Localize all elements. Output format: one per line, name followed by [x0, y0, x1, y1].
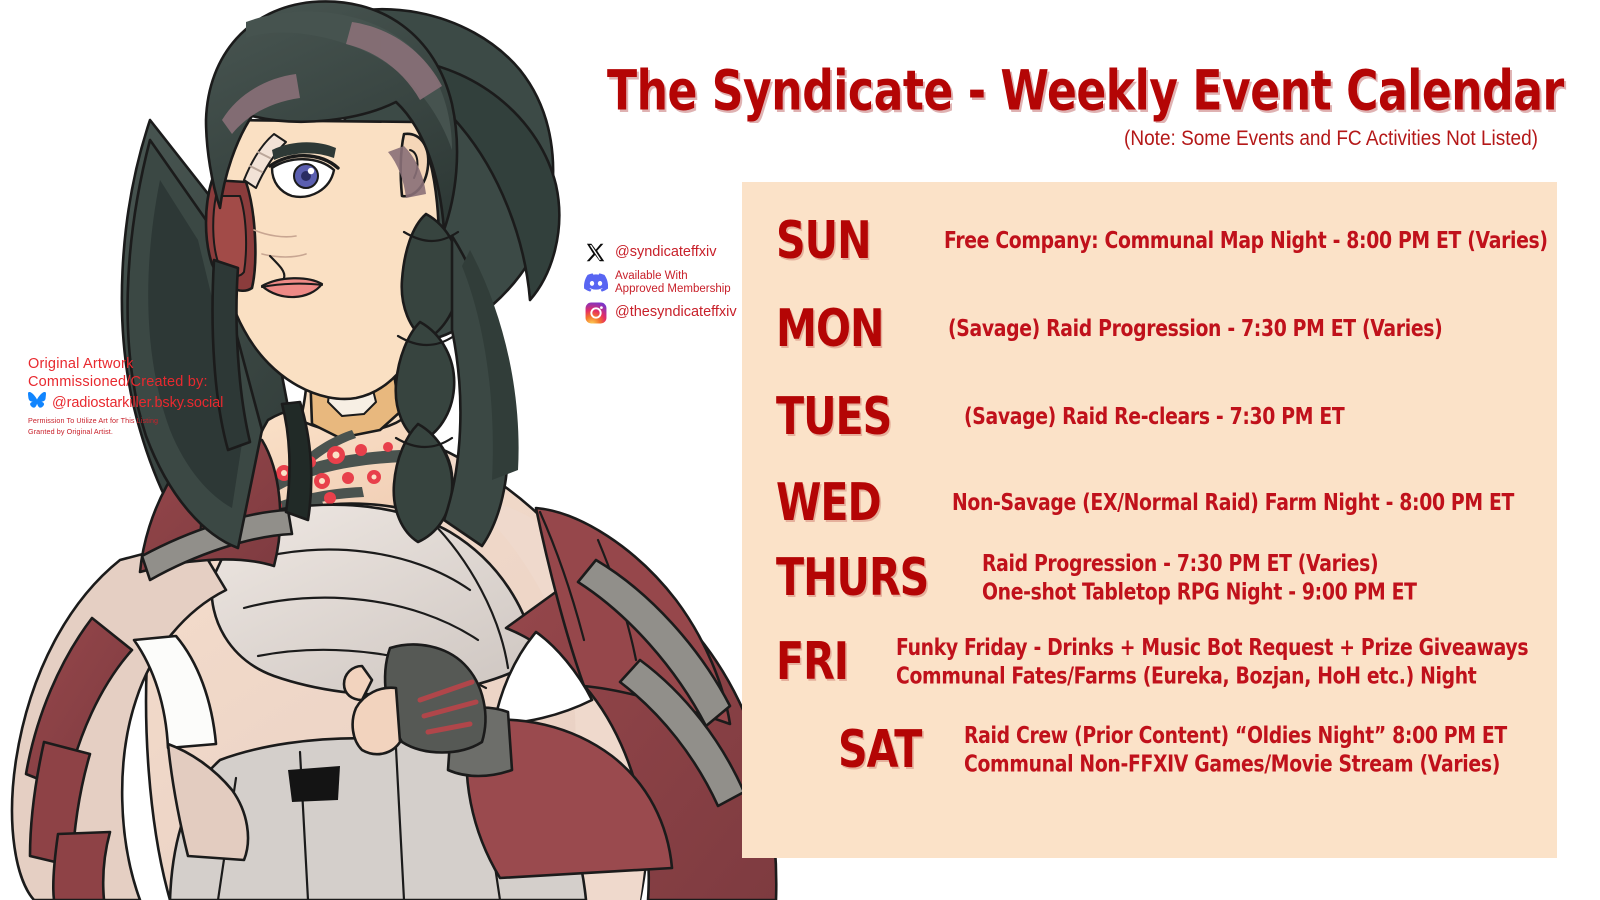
event-text-mon: (Savage) Raid Progression - 7:30 PM ET (… [948, 315, 1442, 343]
poster-canvas: The Syndicate - Weekly Event Calendar (N… [0, 0, 1600, 900]
event-line: Communal Non-FFXIV Games/Movie Stream (V… [964, 750, 1507, 778]
event-line: One-shot Tabletop RPG Night - 9:00 PM ET [982, 578, 1417, 606]
event-line: Raid Crew (Prior Content) “Oldies Night”… [964, 722, 1507, 750]
event-line: Free Company: Communal Map Night - 8:00 … [944, 227, 1548, 255]
discord-note-line1: Available With [615, 270, 731, 282]
event-line: (Savage) Raid Progression - 7:30 PM ET (… [948, 315, 1442, 343]
event-text-sun: Free Company: Communal Map Night - 8:00 … [944, 227, 1548, 255]
day-label-sat: SAT [838, 720, 962, 780]
schedule-row-fri: FRI Funky Friday - Drinks + Music Bot Re… [776, 638, 1551, 686]
schedule-row-tues: TUES (Savage) Raid Re-clears - 7:30 PM E… [776, 394, 1358, 440]
discord-note-line2: Approved Membership [615, 283, 731, 295]
event-line: (Savage) Raid Re-clears - 7:30 PM ET [964, 403, 1344, 431]
permission-line-2: Granted by Original Artist. [28, 427, 288, 437]
day-label-sun: SUN [776, 211, 933, 271]
page-title: The Syndicate - Weekly Event Calendar [607, 62, 1538, 120]
permission-line-1: Permission To Utilize Art for This Listi… [28, 416, 288, 426]
day-label-tues: TUES [776, 387, 949, 447]
event-text-wed: Non-Savage (EX/Normal Raid) Farm Night -… [952, 489, 1514, 517]
event-text-tues: (Savage) Raid Re-clears - 7:30 PM ET [964, 403, 1344, 431]
event-text-sat: Raid Crew (Prior Content) “Oldies Night”… [964, 722, 1507, 778]
schedule-row-wed: WED Non-Savage (EX/Normal Raid) Farm Nig… [776, 480, 1534, 526]
credit-line-1: Original Artwork [28, 356, 288, 374]
discord-icon [583, 270, 608, 295]
schedule-row-thurs: THURS Raid Progression - 7:30 PM ET (Var… [776, 554, 1432, 602]
artist-credit: Original Artwork Commissioned/Created by… [28, 356, 288, 437]
event-line: Raid Progression - 7:30 PM ET (Varies) [982, 550, 1417, 578]
schedule-panel: SUN Free Company: Communal Map Night - 8… [742, 182, 1557, 858]
schedule-row-mon: MON (Savage) Raid Progression - 7:30 PM … [776, 306, 1460, 352]
event-line: Non-Savage (EX/Normal Raid) Farm Night -… [952, 489, 1514, 517]
discord-note: Available With Approved Membership [615, 270, 731, 294]
credit-line-2: Commissioned/Created by: [28, 374, 288, 392]
event-text-thurs: Raid Progression - 7:30 PM ET (Varies) O… [982, 550, 1417, 606]
social-row-discord[interactable]: Available With Approved Membership [583, 270, 763, 295]
instagram-icon [583, 300, 608, 325]
day-label-mon: MON [776, 299, 933, 359]
schedule-row-sat: SAT Raid Crew (Prior Content) “Oldies Ni… [838, 726, 1527, 774]
bluesky-butterfly-icon [28, 392, 46, 413]
event-text-fri: Funky Friday - Drinks + Music Bot Reques… [896, 634, 1528, 690]
artist-handle: @radiostarkiller.bsky.social [52, 395, 223, 411]
social-row-twitter[interactable]: @syndicateffxiv [583, 240, 763, 265]
instagram-handle: @thesyndicateffxiv [615, 305, 737, 320]
social-row-instagram[interactable]: @thesyndicateffxiv [583, 300, 763, 325]
credit-handle-row[interactable]: @radiostarkiller.bsky.social [28, 392, 288, 413]
schedule-row-sun: SUN Free Company: Communal Map Night - 8… [776, 218, 1570, 264]
event-line: Communal Fates/Farms (Eureka, Bozjan, Ho… [896, 662, 1528, 690]
x-twitter-icon [583, 240, 608, 265]
title-note: (Note: Some Events and FC Activities Not… [600, 127, 1538, 152]
day-label-wed: WED [776, 473, 933, 533]
day-label-thurs: THURS [776, 548, 978, 608]
event-line: Funky Friday - Drinks + Music Bot Reques… [896, 634, 1528, 662]
twitter-handle: @syndicateffxiv [615, 245, 717, 260]
social-links: @syndicateffxiv Available With Approved … [583, 240, 763, 330]
day-label-fri: FRI [776, 632, 889, 692]
permission-note: Permission To Utilize Art for This Listi… [28, 416, 288, 437]
